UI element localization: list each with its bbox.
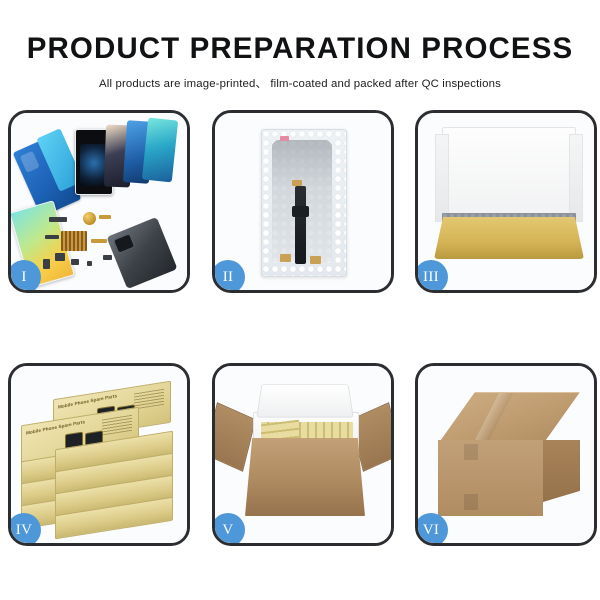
step-badge-4: IV [8, 513, 41, 546]
carton-side-face-icon [543, 440, 580, 502]
camera-module-part-icon [55, 253, 65, 261]
process-step-panel-2: II [212, 110, 394, 293]
flex-cable-assembly-icon [295, 186, 306, 264]
process-steps-grid: I II III [8, 110, 592, 546]
step-badge-1: I [8, 260, 41, 293]
connector-bottom-right-icon [310, 256, 321, 264]
header: PRODUCT PREPARATION PROCESS All products… [0, 0, 600, 91]
process-step-panel-6: VI [415, 363, 597, 546]
foam-box-lid-icon [256, 384, 353, 417]
carton-front-face-icon [438, 440, 543, 516]
process-step-panel-4: Mobile Phone Spare Parts Mobile Phone Sp… [8, 363, 190, 546]
antenna-part-icon [91, 239, 107, 243]
chip-part-1-icon [49, 217, 67, 222]
step-6-illustration [418, 366, 594, 543]
bracket-part-icon [103, 255, 112, 260]
carton-flap-left-icon [212, 402, 256, 472]
step-1-illustration [11, 113, 187, 290]
pink-label-sticker-icon [280, 136, 289, 141]
product-preparation-infographic: PRODUCT PREPARATION PROCESS All products… [0, 0, 600, 600]
step-5-illustration [215, 366, 391, 543]
box-spec-lines-2-icon [102, 415, 132, 436]
speaker-module-icon [83, 212, 96, 225]
carton-tab-lower-icon [464, 494, 478, 510]
step-badge-2: II [212, 260, 245, 293]
phone-display-5-icon [142, 118, 178, 183]
box-stack-icon: Mobile Phone Spare Parts Mobile Phone Sp… [19, 384, 185, 534]
step-badge-5: V [212, 513, 245, 546]
page-title: PRODUCT PREPARATION PROCESS [0, 0, 600, 64]
carton-top-face-icon [438, 392, 580, 444]
bubble-wrap-bag-icon [261, 129, 347, 277]
gold-connector-part-icon [99, 215, 111, 219]
step-badge-6: VI [415, 513, 448, 546]
connector-bottom-left-icon [280, 254, 291, 262]
step-badge-3: III [415, 260, 448, 293]
process-step-panel-3: III [415, 110, 597, 293]
step-2-illustration [215, 113, 391, 290]
page-subtitle: All products are image-printed、 film-coa… [0, 64, 600, 91]
carton-tab-upper-icon [464, 444, 478, 460]
phone-rear-housing-icon [106, 217, 177, 289]
kraft-box-tray-icon [434, 217, 584, 259]
step-3-illustration [418, 113, 594, 290]
sim-tray-part-icon [43, 259, 50, 269]
flex-cable-part-icon [45, 235, 59, 239]
button-part-icon [71, 259, 79, 265]
process-step-panel-1: I [8, 110, 190, 293]
connector-top-icon [292, 180, 302, 186]
step-4-illustration: Mobile Phone Spare Parts Mobile Phone Sp… [11, 366, 187, 543]
ic-grid-part-icon [61, 231, 87, 251]
screw-part-icon [87, 261, 92, 266]
shipping-carton-open-icon [245, 438, 365, 516]
white-box-lid-icon [442, 127, 576, 225]
process-step-panel-5: V [212, 363, 394, 546]
